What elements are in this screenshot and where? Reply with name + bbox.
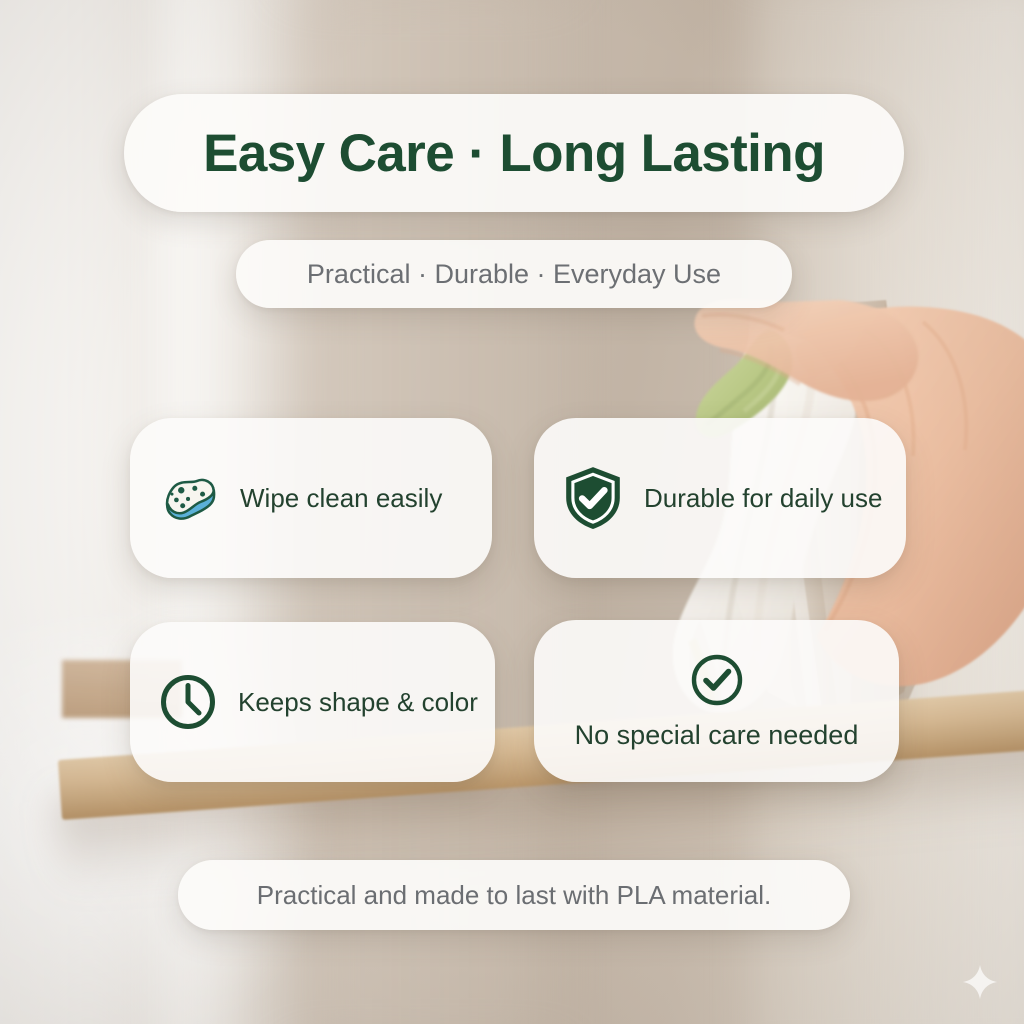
feature-card-wipe-clean[interactable]: Wipe clean easily: [130, 418, 492, 578]
page-title: Easy Care · Long Lasting: [203, 123, 825, 184]
feature-label: No special care needed: [575, 720, 859, 751]
check-circle-icon: [689, 652, 745, 708]
feature-label: Wipe clean easily: [240, 483, 442, 514]
sparkle-icon: [962, 964, 998, 1000]
feature-card-no-special-care[interactable]: No special care needed: [534, 620, 899, 782]
title-pill: Easy Care · Long Lasting: [124, 94, 904, 212]
sponge-icon: [158, 467, 220, 529]
page-subtitle: Practical · Durable · Everyday Use: [307, 259, 721, 290]
footer-text: Practical and made to last with PLA mate…: [257, 880, 771, 911]
infographic-overlay: Easy Care · Long Lasting Practical · Dur…: [0, 0, 1024, 1024]
shield-check-icon: [562, 465, 624, 531]
clock-icon: [158, 672, 218, 732]
subtitle-pill: Practical · Durable · Everyday Use: [236, 240, 792, 308]
feature-label: Durable for daily use: [644, 483, 882, 514]
feature-card-durable[interactable]: Durable for daily use: [534, 418, 906, 578]
feature-label: Keeps shape & color: [238, 687, 478, 718]
footer-pill: Practical and made to last with PLA mate…: [178, 860, 850, 930]
feature-card-keeps-shape[interactable]: Keeps shape & color: [130, 622, 495, 782]
